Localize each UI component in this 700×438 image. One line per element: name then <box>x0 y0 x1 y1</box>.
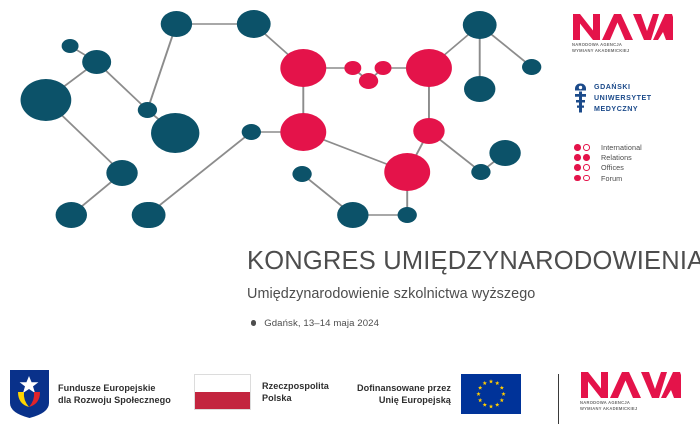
irof-line-2: Relations <box>601 153 642 163</box>
poland-flag-icon <box>194 374 251 410</box>
irof-dot-hollow <box>583 144 590 151</box>
network-node <box>21 79 72 121</box>
fundusze-europejskie-icon <box>10 370 49 418</box>
network-node <box>56 202 87 228</box>
network-node <box>375 61 392 75</box>
eu-line-2: Unię Europejską <box>357 394 451 406</box>
network-node <box>489 140 520 166</box>
title-block: KONGRES UMIĘDZYNARODOWIENIA Umiędzynarod… <box>247 249 677 329</box>
page-subtitle: Umiędzynarodowienie szkolnictwa wyższego <box>247 286 677 302</box>
nawa-wordmark-icon <box>572 14 674 40</box>
footer-divider <box>558 374 559 424</box>
event-date: Gdańsk, 13–14 maja 2024 <box>264 318 379 329</box>
footer-unia-europejska: Dofinansowane przez Unię Europejską <box>357 374 521 414</box>
network-node <box>471 164 490 180</box>
network-node <box>138 102 157 118</box>
irof-dot-hollow <box>583 175 590 182</box>
network-nodes <box>21 10 542 228</box>
irof-dot-hollow <box>583 164 590 171</box>
irof-logo: International Relations Offices Forum <box>574 143 642 185</box>
rp-line-2: Polska <box>262 392 329 404</box>
footer-nawa-logo: NARODOWA AGENCJA WYMIANY AKADEMICKIEJ <box>580 372 682 412</box>
network-node <box>82 50 111 74</box>
gumed-line-3: MEDYCZNY <box>594 104 652 115</box>
network-node <box>62 39 79 53</box>
irof-dot-filled <box>574 144 581 151</box>
nawa-subtitle-line-2: WYMIANY AKADEMICKIEJ <box>572 48 692 54</box>
footer-nawa-subtitle-line-2: WYMIANY AKADEMICKIEJ <box>580 406 682 412</box>
network-node <box>337 202 368 228</box>
irof-dot-filled <box>574 164 581 171</box>
bullet-icon <box>251 320 256 325</box>
network-node <box>132 202 163 228</box>
gumed-line-2: UNIWERSYTET <box>594 93 652 104</box>
network-node <box>413 118 444 144</box>
network-node <box>106 160 137 186</box>
network-node <box>406 49 452 87</box>
rzeczpospolita-polska-label: Rzeczpospolita Polska <box>262 380 329 405</box>
rp-line-1: Rzeczpospolita <box>262 380 329 392</box>
network-node <box>522 59 541 75</box>
irof-line-4: Forum <box>601 174 642 184</box>
footer-funduszeeuropejskie: Fundusze Europejskie dla Rozwoju Społecz… <box>10 370 171 418</box>
fe-line-2: dla Rozwoju Społecznego <box>58 394 171 406</box>
fundusze-europejskie-label: Fundusze Europejskie dla Rozwoju Społecz… <box>58 382 171 407</box>
network-node <box>151 113 199 153</box>
gumed-line-1: GDAŃSKI <box>594 82 652 93</box>
gumed-logo: GDAŃSKI UNIWERSYTET MEDYCZNY <box>573 82 652 115</box>
gumed-label: GDAŃSKI UNIWERSYTET MEDYCZNY <box>594 82 652 115</box>
nawa-logo-header: NARODOWA AGENCJA WYMIANY AKADEMICKIEJ <box>572 14 692 54</box>
irof-dot-filled <box>574 175 581 182</box>
page-title: KONGRES UMIĘDZYNARODOWIENIA <box>247 249 677 275</box>
eu-flag-icon <box>461 374 521 414</box>
flag-stripe-red <box>195 392 250 409</box>
irof-label: International Relations Offices Forum <box>601 143 642 184</box>
unia-europejska-label: Dofinansowane przez Unię Europejską <box>357 382 451 407</box>
footer-nawa-subtitle: NARODOWA AGENCJA WYMIANY AKADEMICKIEJ <box>580 400 682 412</box>
irof-line-1: International <box>601 143 642 153</box>
network-node <box>398 207 417 223</box>
network-node <box>344 61 361 75</box>
network-node <box>242 124 261 140</box>
event-meta: Gdańsk, 13–14 maja 2024 <box>247 318 677 329</box>
nawa-subtitle: NARODOWA AGENCJA WYMIANY AKADEMICKIEJ <box>572 42 692 54</box>
irof-dot-filled <box>574 154 581 161</box>
eu-line-1: Dofinansowane przez <box>357 382 451 394</box>
network-node <box>384 153 430 191</box>
gumed-emblem-icon <box>573 83 588 113</box>
network-node <box>359 73 378 89</box>
footer-logo-bar: Fundusze Europejskie dla Rozwoju Społecz… <box>0 362 700 438</box>
footer-nawa-wordmark-icon <box>580 372 682 398</box>
irof-dot-grid <box>574 143 592 185</box>
irof-line-3: Offices <box>601 163 642 173</box>
network-node <box>237 10 271 38</box>
network-node <box>161 11 192 37</box>
fe-line-1: Fundusze Europejskie <box>58 382 171 394</box>
network-node <box>280 49 326 87</box>
network-graphic <box>0 0 580 245</box>
network-node <box>463 11 497 39</box>
footer-rzeczpospolita-polska: Rzeczpospolita Polska <box>194 374 329 410</box>
irof-dot-filled <box>583 154 590 161</box>
network-node <box>464 76 495 102</box>
flag-stripe-white <box>195 375 250 392</box>
network-node <box>280 113 326 151</box>
network-node <box>292 166 311 182</box>
